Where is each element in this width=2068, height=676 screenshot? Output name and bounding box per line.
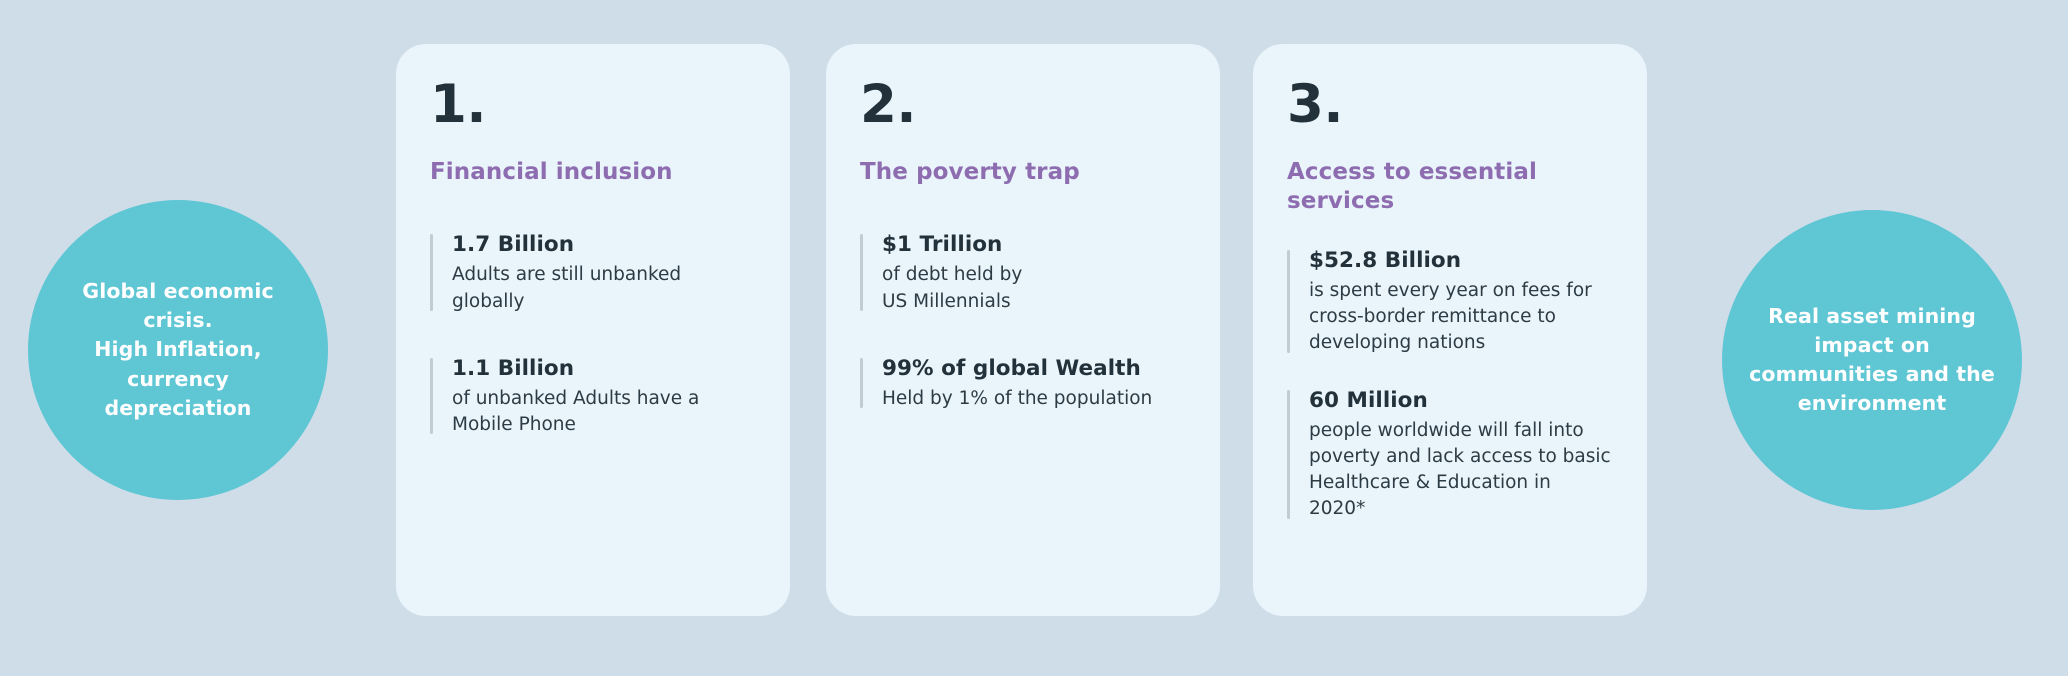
- infographic-canvas: Global economic crisis. High Inflation, …: [0, 0, 2068, 676]
- card-1-number: 1.: [430, 78, 756, 131]
- card-1-stats: 1.7 Billion Adults are still unbanked gl…: [430, 231, 756, 438]
- stat-description: Held by 1% of the population: [882, 386, 1186, 412]
- stat-item: 1.7 Billion Adults are still unbanked gl…: [430, 231, 756, 314]
- card-1-title: Financial inclusion: [430, 158, 756, 187]
- stat-description: of unbanked Adults have a Mobile Phone: [452, 386, 756, 439]
- stat-value: $52.8 Billion: [1309, 247, 1613, 275]
- stat-item: 1.1 Billion of unbanked Adults have a Mo…: [430, 355, 756, 438]
- card-3-stats: $52.8 Billion is spent every year on fee…: [1287, 247, 1613, 523]
- problem-card-2: 2. The poverty trap $1 Trillion of debt …: [826, 44, 1220, 616]
- card-2-stats: $1 Trillion of debt held by US Millennia…: [860, 231, 1186, 412]
- stat-item: $52.8 Billion is spent every year on fee…: [1287, 247, 1613, 357]
- stat-value: 1.1 Billion: [452, 355, 756, 383]
- stat-value: 1.7 Billion: [452, 231, 756, 259]
- context-circle-right: Real asset mining impact on communities …: [1722, 210, 2022, 510]
- card-3-title: Access to essential services: [1287, 158, 1613, 217]
- card-2-number: 2.: [860, 78, 1186, 131]
- stat-item: $1 Trillion of debt held by US Millennia…: [860, 231, 1186, 314]
- card-3-number: 3.: [1287, 78, 1613, 131]
- stat-description: people worldwide will fall into poverty …: [1309, 418, 1613, 523]
- stat-item: 99% of global Wealth Held by 1% of the p…: [860, 355, 1186, 412]
- context-circle-left: Global economic crisis. High Inflation, …: [28, 200, 328, 500]
- problem-card-1: 1. Financial inclusion 1.7 Billion Adult…: [396, 44, 790, 616]
- problem-card-3: 3. Access to essential services $52.8 Bi…: [1253, 44, 1647, 616]
- stat-value: 60 Million: [1309, 387, 1613, 415]
- context-circle-right-text: Real asset mining impact on communities …: [1748, 302, 1996, 418]
- stat-description: Adults are still unbanked globally: [452, 262, 756, 315]
- stat-description: is spent every year on fees for cross-bo…: [1309, 278, 1613, 357]
- stat-item: 60 Million people worldwide will fall in…: [1287, 387, 1613, 523]
- stat-value: 99% of global Wealth: [882, 355, 1186, 383]
- card-2-title: The poverty trap: [860, 158, 1186, 187]
- stat-description: of debt held by US Millennials: [882, 262, 1186, 315]
- stat-value: $1 Trillion: [882, 231, 1186, 259]
- context-circle-left-text: Global economic crisis. High Inflation, …: [54, 277, 302, 423]
